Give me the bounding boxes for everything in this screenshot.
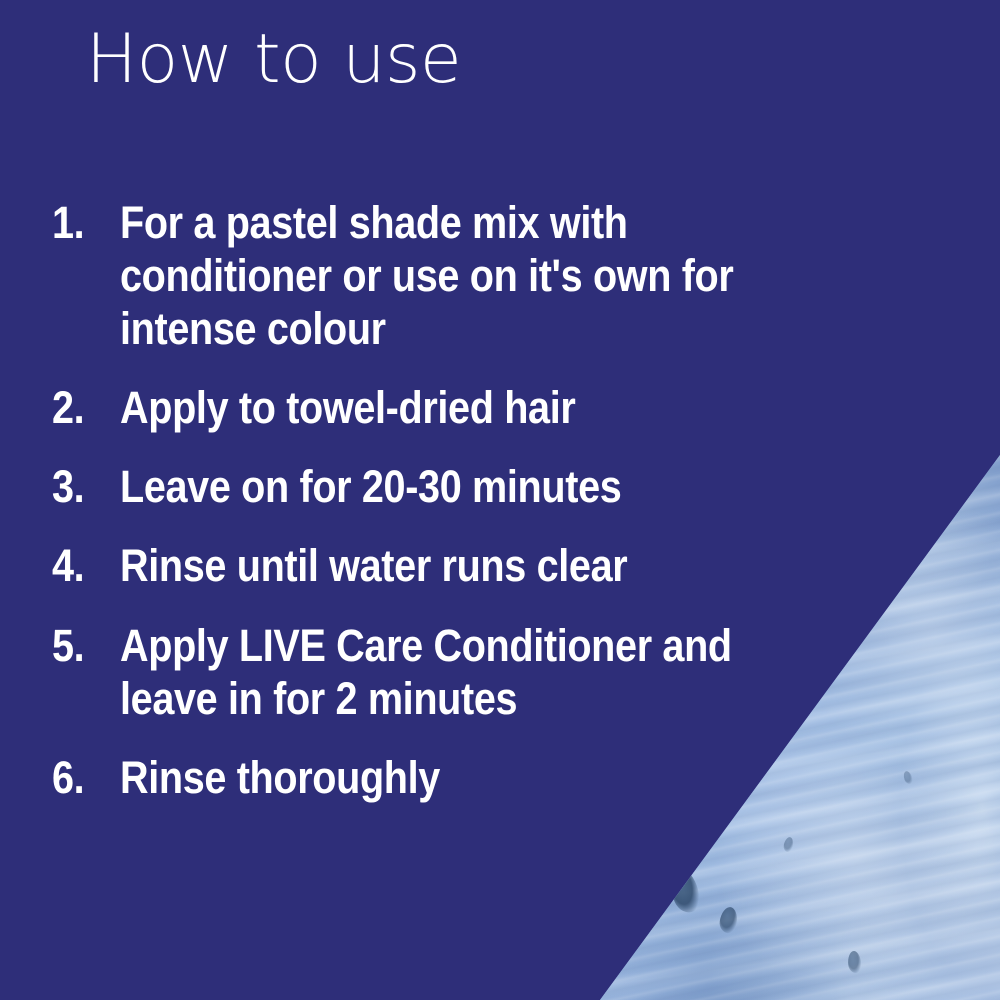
list-item: 5. Apply LIVE Care Conditioner and leave… bbox=[52, 619, 820, 725]
step-number: 4. bbox=[52, 539, 112, 592]
list-item: 1. For a pastel shade mix with condition… bbox=[52, 196, 820, 355]
step-text: For a pastel shade mix with conditioner … bbox=[120, 196, 736, 355]
list-item: 3. Leave on for 20-30 minutes bbox=[52, 460, 820, 513]
step-number: 5. bbox=[52, 619, 112, 672]
step-text: Rinse thoroughly bbox=[120, 751, 736, 804]
list-item: 6. Rinse thoroughly bbox=[52, 751, 820, 804]
step-text: Apply LIVE Care Conditioner and leave in… bbox=[120, 619, 736, 725]
page-title: How to use bbox=[86, 24, 461, 95]
step-text: Rinse until water runs clear bbox=[120, 539, 736, 592]
instruction-steps-list: 1. For a pastel shade mix with condition… bbox=[52, 196, 820, 804]
step-number: 1. bbox=[52, 196, 112, 249]
list-item: 2. Apply to towel-dried hair bbox=[52, 381, 820, 434]
step-number: 3. bbox=[52, 460, 112, 513]
step-number: 2. bbox=[52, 381, 112, 434]
step-text: Leave on for 20-30 minutes bbox=[120, 460, 736, 513]
how-to-use-poster: How to use 1. For a pastel shade mix wit… bbox=[0, 0, 1000, 1000]
list-item: 4. Rinse until water runs clear bbox=[52, 539, 820, 592]
step-text: Apply to towel-dried hair bbox=[120, 381, 736, 434]
step-number: 6. bbox=[52, 751, 112, 804]
